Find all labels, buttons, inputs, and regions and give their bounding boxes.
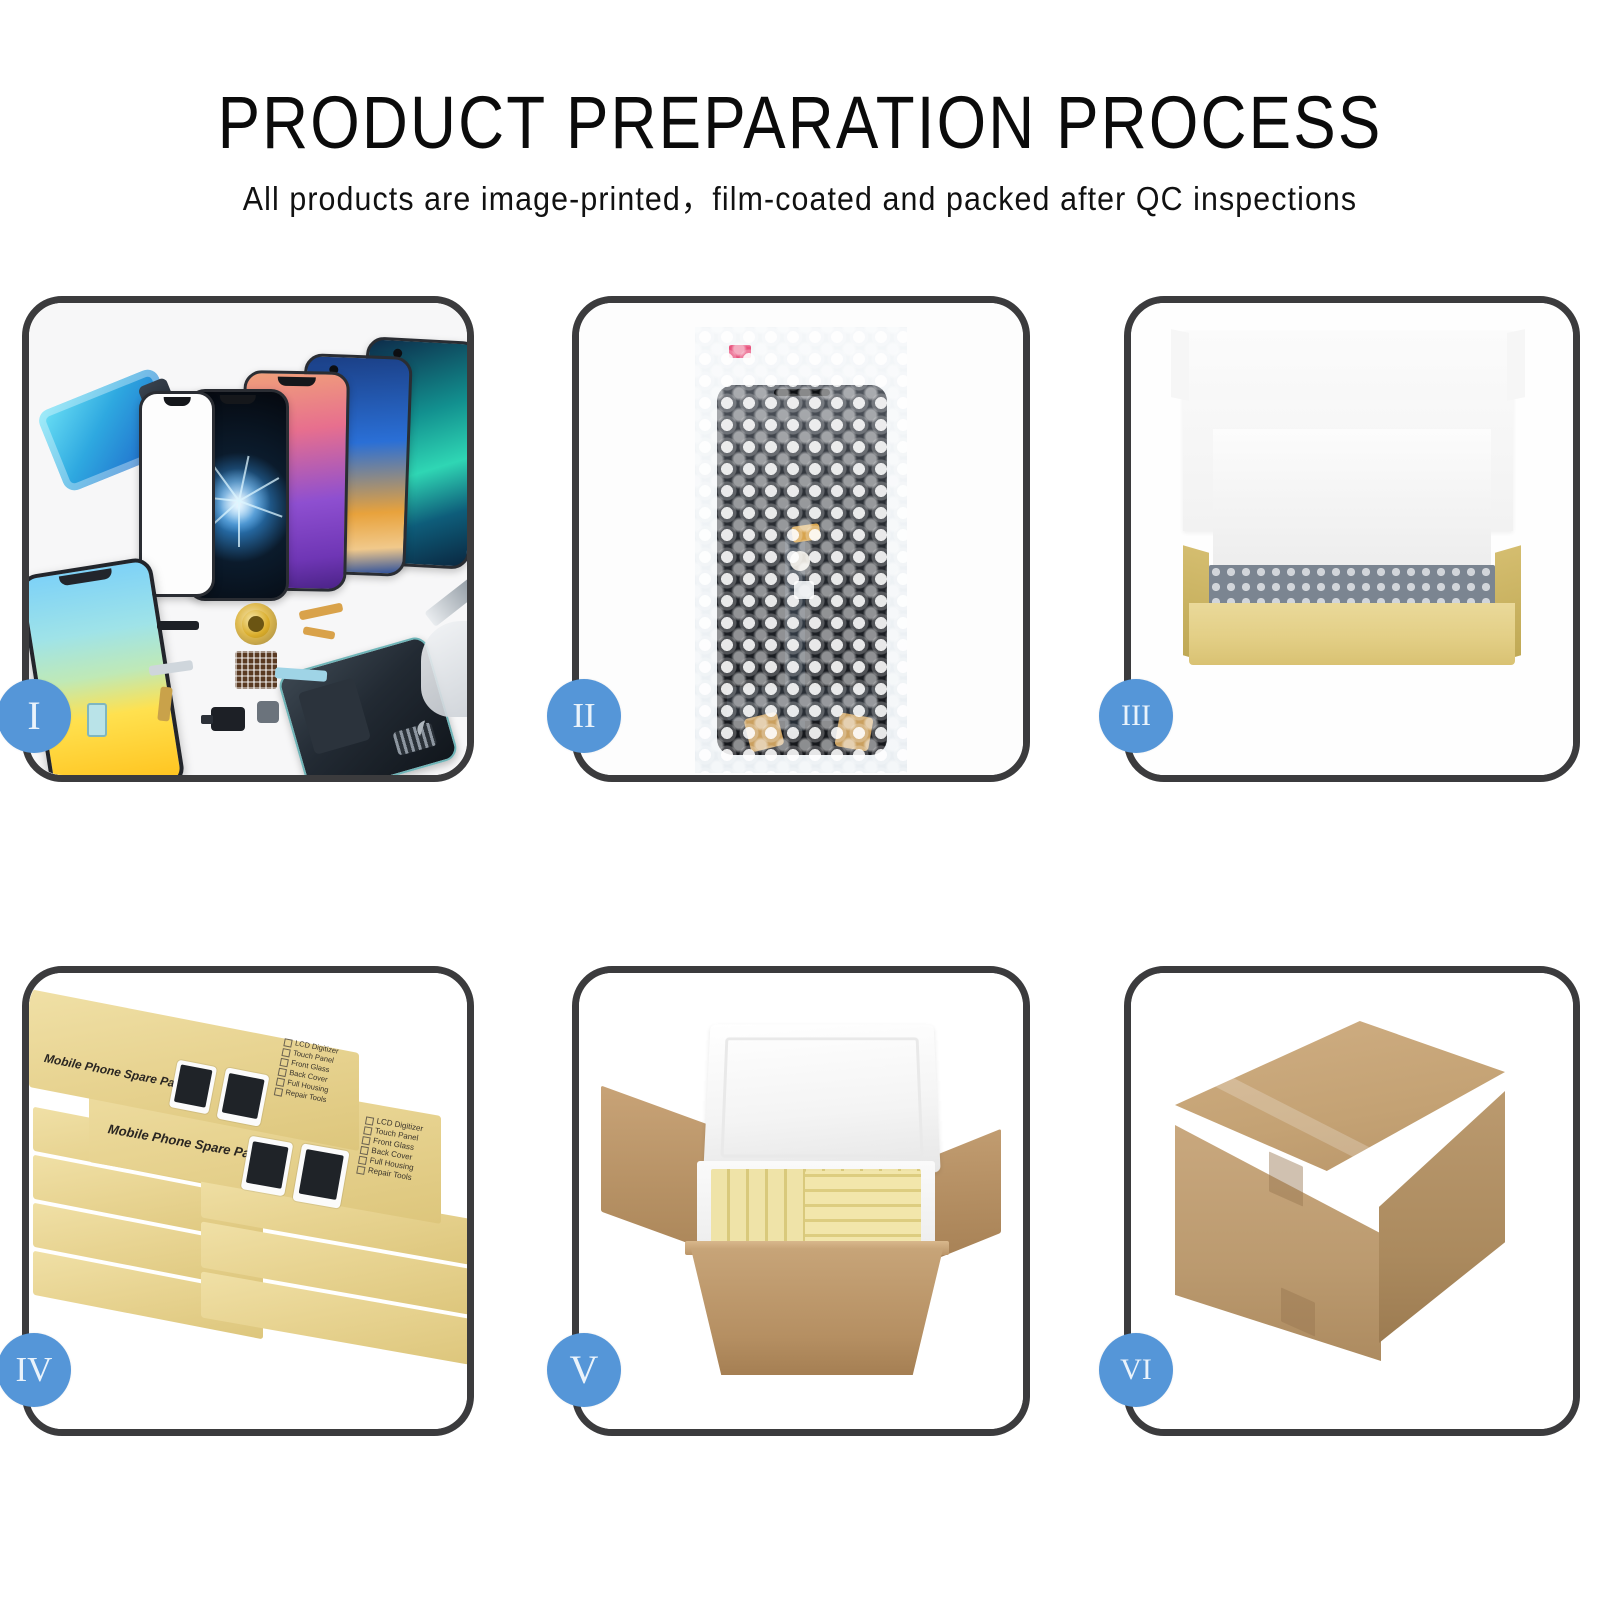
- process-step-5: V: [572, 966, 1030, 1436]
- step-number-badge-4: IV: [0, 1333, 71, 1407]
- flex-cable-part: [303, 626, 336, 639]
- box-checklist: LCD Digitizer Touch Panel Front Glass Ba…: [274, 1036, 340, 1105]
- white-foam-sheet: [1213, 429, 1491, 569]
- foam-lid: [703, 1024, 940, 1172]
- speaker-part: [157, 621, 199, 630]
- yellow-boxes-row: [805, 1171, 921, 1249]
- process-step-4: Mobile Phone Spare Parts LCD Digitizer T…: [22, 966, 474, 1436]
- carton-with-foam: [579, 973, 1023, 1429]
- process-step-grid: I: [0, 0, 1600, 1600]
- step-number-badge-1: I: [0, 679, 71, 753]
- bubble-texture-overlay: [695, 327, 907, 773]
- bubble-wrapped-screen: [579, 303, 1023, 775]
- step-number-badge-5: V: [547, 1333, 621, 1407]
- wireless-charging-coil-part: [235, 603, 277, 645]
- camera-module-part: [257, 701, 279, 723]
- carton-body: [691, 1249, 943, 1375]
- bubble-wrap-bag: [695, 327, 907, 773]
- process-step-1: I: [22, 296, 474, 782]
- sealed-shipping-carton: [1131, 973, 1573, 1429]
- box-screen-thumbnail: [292, 1143, 349, 1208]
- sim-tray-part: [87, 703, 107, 737]
- phone-parts-collage: [29, 303, 467, 775]
- process-step-6: VI: [1124, 966, 1580, 1436]
- step-2-image: [579, 303, 1023, 775]
- box-checklist: LCD Digitizer Touch Panel Front Glass Ba…: [356, 1114, 424, 1183]
- hand-holding-tool: [421, 621, 467, 717]
- step-3-image: [1131, 303, 1573, 775]
- process-step-2: II: [572, 296, 1030, 782]
- retail-box-printed-top: Mobile Phone Spare Parts LCD Digitizer T…: [29, 1021, 359, 1119]
- step-1-image: [29, 303, 467, 775]
- step-number-badge-2: II: [547, 679, 621, 753]
- box-screen-thumbnail: [241, 1136, 294, 1197]
- step-4-image: Mobile Phone Spare Parts LCD Digitizer T…: [29, 973, 467, 1429]
- box-tray-front-wall: [1189, 603, 1515, 665]
- step-number-badge-6: VI: [1099, 1333, 1173, 1407]
- open-inner-box: [1131, 303, 1573, 775]
- battery-part: [211, 707, 245, 731]
- ic-chip-part: [235, 651, 277, 689]
- step-5-image: [579, 973, 1023, 1429]
- step-6-image: [1131, 973, 1573, 1429]
- flex-cable-part: [299, 603, 344, 621]
- process-step-3: III: [1124, 296, 1580, 782]
- step-number-badge-3: III: [1099, 679, 1173, 753]
- repair-tool-icon: [424, 561, 467, 627]
- stacked-retail-boxes: Mobile Phone Spare Parts LCD Digitizer T…: [29, 973, 467, 1429]
